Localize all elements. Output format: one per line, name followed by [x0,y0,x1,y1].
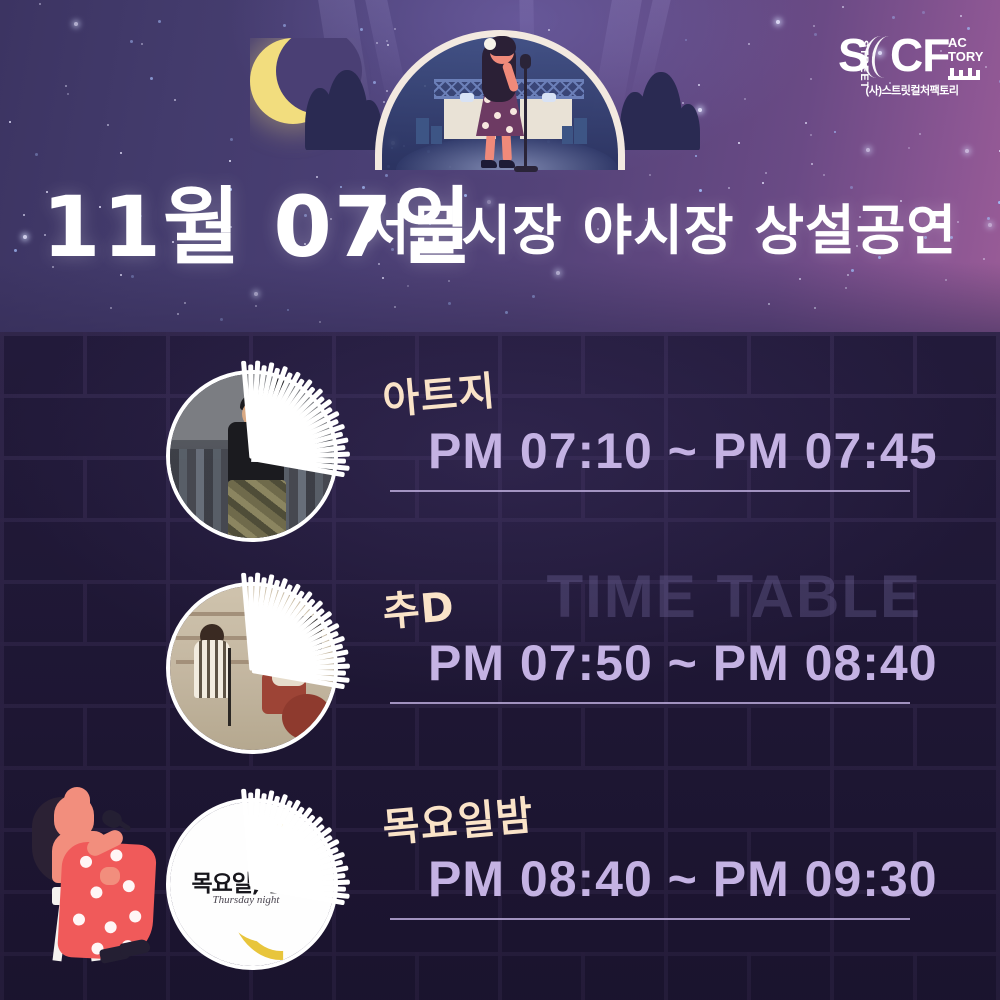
star-icon [230,138,233,141]
star-icon [150,77,153,80]
star-icon [107,124,109,126]
star-icon [255,305,257,307]
star-icon [52,266,54,268]
star-icon [130,40,133,43]
star-icon [892,16,895,19]
star-icon [985,66,987,68]
star-icon [987,217,990,220]
star-icon [810,134,812,136]
logo-text-ac: AC [948,36,967,49]
star-icon [776,20,780,24]
timetable-list: 2 아트지 PM 07:10 ~ PM 07:45 [0,332,1000,1000]
star-icon [845,287,847,289]
star-icon [762,182,764,184]
star-icon [811,163,813,165]
thursday-night-logo-korean: 목요일, 밤♪ [186,864,306,898]
star-icon [983,258,985,260]
star-icon [695,155,697,157]
star-icon [960,15,962,17]
artist-name: 추D [380,574,457,638]
star-icon [814,33,817,36]
star-icon [823,174,825,176]
star-icon [158,20,161,23]
factory-icon [948,66,980,80]
star-icon [810,78,812,80]
poster-root: S STREET CF AC TORY (사)스트릿컬처팩토리 11월 07일 … [0,0,1000,1000]
star-icon [799,278,801,280]
star-icon [813,25,815,27]
star-icon [448,302,451,305]
star-icon [505,311,508,314]
star-icon [556,271,560,275]
star-icon [65,85,67,87]
star-icon [698,84,700,86]
star-icon [184,302,186,304]
artist-photo-band [166,582,338,754]
star-icon [685,39,687,41]
star-icon [378,263,380,265]
star-icon [254,292,258,296]
row-divider [390,490,910,492]
star-icon [23,235,27,239]
row-divider [390,918,910,920]
artist-name: 목요일밤 [380,783,536,854]
timetable-row[interactable]: 2 아트지 PM 07:10 ~ PM 07:45 [0,362,1000,562]
star-icon [9,121,11,123]
star-icon [39,3,41,5]
star-icon [967,27,970,30]
star-icon [945,279,947,281]
thursday-night-logo-english: Thursday night [186,894,306,906]
star-icon [448,280,450,282]
star-icon [698,108,702,112]
stage-singer-illustration [462,32,542,172]
star-icon [744,98,746,100]
scf-logo: S STREET CF AC TORY (사)스트릿컬처팩토리 [838,34,978,98]
star-icon [287,309,289,311]
star-icon [682,102,684,104]
star-icon [14,249,17,252]
star-icon [74,22,78,26]
star-icon [407,285,409,287]
artist-photo-dancer: 2 [166,370,338,542]
star-icon [805,122,807,124]
header-night-sky: S STREET CF AC TORY (사)스트릿컬처팩토리 11월 07일 … [0,0,1000,332]
star-icon [765,172,767,174]
logo-korean-name: (사)스트릿컬처팩토리 [846,82,978,98]
star-icon [847,274,849,276]
star-icon [842,6,844,8]
poster-subtitle: 서문시장 야시장 상설공연 [360,186,957,265]
star-icon [965,149,969,153]
artist-time: PM 07:50 ~ PM 08:40 [428,634,938,692]
star-icon [177,313,179,315]
star-icon [360,28,363,31]
star-icon [922,11,925,14]
star-icon [768,303,770,305]
star-icon [908,147,910,149]
star-icon [814,307,816,309]
star-icon [738,142,740,144]
logo-text-tory: TORY [948,50,983,63]
timetable-row[interactable]: 추D PM 07:50 ~ PM 08:40 [0,574,1000,774]
logo-letters-cf: CF [890,32,949,78]
star-icon [283,24,286,27]
artist-name: 아트지 [380,358,498,426]
star-icon [319,321,321,323]
artist-time: PM 08:40 ~ PM 09:30 [428,850,938,908]
star-icon [120,274,122,276]
star-icon [120,152,122,154]
star-icon [834,131,836,133]
star-icon [35,153,38,156]
star-icon [220,318,223,321]
star-icon [748,43,750,45]
timetable-row[interactable]: 목요일, 밤♪ Thursday night 목요일밤 PM 08:40 ~ P… [0,790,1000,990]
star-icon [174,99,176,101]
star-icon [919,133,921,135]
star-icon [394,306,396,308]
star-icon [131,275,134,278]
artist-time: PM 07:10 ~ PM 07:45 [428,422,938,480]
star-icon [957,221,959,223]
star-icon [110,307,112,309]
star-icon [382,277,384,279]
star-icon [649,174,651,176]
artist-logo-thursday-night: 목요일, 밤♪ Thursday night [166,798,338,970]
row-divider [390,702,910,704]
star-icon [141,43,143,45]
star-icon [988,223,992,227]
star-icon [532,295,535,298]
star-icon [851,269,854,272]
star-icon [23,214,25,216]
star-icon [866,148,870,152]
star-icon [67,93,69,95]
bush-icon [676,104,700,150]
